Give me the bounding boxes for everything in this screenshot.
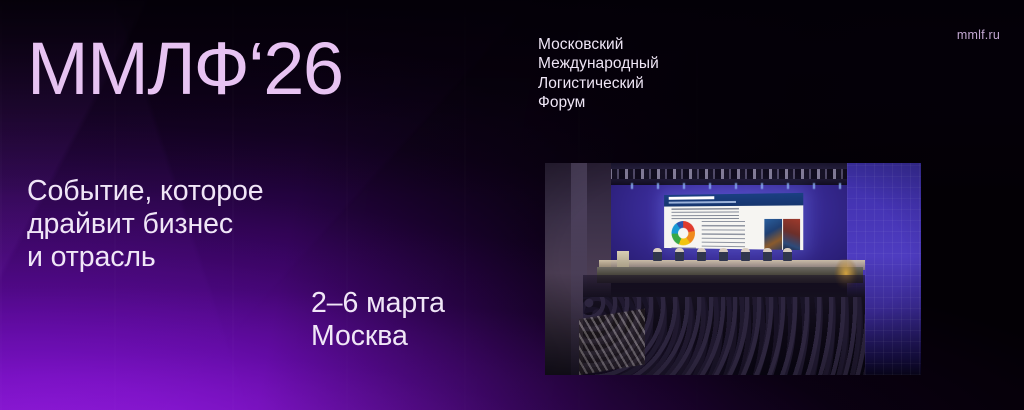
- event-city: Москва: [311, 320, 445, 353]
- conference-hall-photo: [545, 163, 921, 375]
- event-full-name-line-2: Международный: [538, 54, 659, 73]
- tagline-line-3: и отрасль: [27, 241, 263, 274]
- tagline: Событие, которое драйвит бизнес и отрасл…: [27, 175, 263, 274]
- brand-logo: ММЛФ‘26: [27, 32, 343, 106]
- site-url-link[interactable]: mmlf.ru: [957, 28, 1000, 42]
- tagline-line-2: драйвит бизнес: [27, 208, 263, 241]
- event-dates: 2–6 марта: [311, 287, 445, 320]
- event-full-name: Московский Международный Логистический Ф…: [538, 35, 659, 113]
- event-full-name-line-4: Форум: [538, 93, 659, 112]
- event-full-name-line-1: Московский: [538, 35, 659, 54]
- tagline-line-1: Событие, которое: [27, 175, 263, 208]
- photo-vignette: [545, 163, 921, 375]
- event-date-location: 2–6 марта Москва: [311, 287, 445, 353]
- event-promo-banner: ММЛФ‘26 Московский Международный Логисти…: [0, 0, 1024, 410]
- event-full-name-line-3: Логистический: [538, 74, 659, 93]
